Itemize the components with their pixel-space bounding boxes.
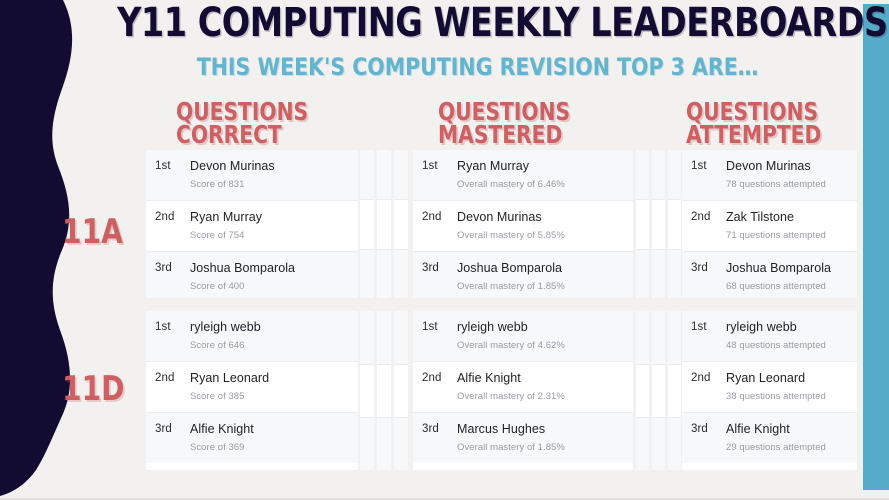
gutter-card-sliver [636, 150, 649, 298]
entry: Alfie Knight Score of 369 [190, 422, 358, 454]
leaderboard-11d-questions-mastered[interactable]: 1st ryleigh webb Overall mastery of 4.62… [413, 311, 633, 470]
entry: Devon Murinas Score of 831 [190, 159, 358, 191]
leaderboard-11d-questions-correct[interactable]: 1st ryleigh webb Score of 646 2nd Ryan L… [146, 311, 358, 470]
student-metric: Overall mastery of 2.31% [457, 391, 633, 403]
entry: Devon Murinas Overall mastery of 5.85% [457, 210, 633, 242]
column-heading-questions-attempted: Questions Attempted [686, 100, 821, 146]
student-metric: Score of 385 [190, 391, 358, 403]
rank-label: 1st [682, 320, 726, 334]
entry: Alfie Knight 29 questions attempted [726, 422, 857, 454]
leaderboard-11d-questions-attempted[interactable]: 1st ryleigh webb 48 questions attempted … [682, 311, 857, 470]
rank-label: 2nd [413, 371, 457, 385]
rank-label: 1st [413, 159, 457, 173]
student-name: Ryan Murray [457, 159, 633, 174]
student-metric: 38 questions attempted [726, 391, 857, 403]
table-row [668, 417, 681, 470]
table-row[interactable]: 1st ryleigh webb Overall mastery of 4.62… [413, 311, 633, 361]
entry: Zak Tilstone 71 questions attempted [726, 210, 857, 242]
table-row [636, 311, 649, 364]
rank-label: 1st [682, 159, 726, 173]
table-row [636, 249, 649, 298]
table-row [636, 417, 649, 470]
gutter-card-sliver [394, 150, 408, 298]
column-heading-questions-correct: Questions Correct [176, 100, 308, 146]
gutter-card-sliver [652, 150, 665, 298]
table-row [394, 364, 408, 417]
table-row [360, 417, 374, 470]
table-row [360, 249, 374, 298]
table-row [377, 417, 391, 470]
student-metric: 68 questions attempted [726, 281, 857, 293]
table-row [668, 150, 681, 199]
table-row[interactable]: 1st ryleigh webb 48 questions attempted [682, 311, 857, 361]
table-row [668, 311, 681, 364]
student-name: Devon Murinas [190, 159, 358, 174]
student-metric: Overall mastery of 1.85% [457, 442, 633, 454]
student-metric: 71 questions attempted [726, 230, 857, 242]
table-row [377, 249, 391, 298]
table-row[interactable]: 2nd Ryan Leonard Score of 385 [146, 361, 358, 412]
table-row[interactable]: 3rd Joshua Bomparola Overall mastery of … [413, 251, 633, 298]
table-row [360, 364, 374, 417]
entry: Ryan Leonard Score of 385 [190, 371, 358, 403]
student-metric: Score of 369 [190, 442, 358, 454]
gutter-card-sliver [636, 311, 649, 470]
student-name: Devon Murinas [457, 210, 633, 225]
table-row[interactable]: 3rd Marcus Hughes Overall mastery of 1.8… [413, 412, 633, 463]
student-name: ryleigh webb [190, 320, 358, 335]
table-row [668, 199, 681, 248]
student-metric: Overall mastery of 6.46% [457, 179, 633, 191]
page-subtitle: This week's computing revision top 3 are… [109, 54, 845, 80]
rank-label: 3rd [146, 261, 190, 275]
table-row [668, 364, 681, 417]
student-name: Zak Tilstone [726, 210, 857, 225]
table-row [652, 199, 665, 248]
entry: Ryan Murray Score of 754 [190, 210, 358, 242]
table-row[interactable]: 3rd Joshua Bomparola 68 questions attemp… [682, 251, 857, 298]
table-row[interactable]: 2nd Zak Tilstone 71 questions attempted [682, 200, 857, 251]
student-name: ryleigh webb [726, 320, 857, 335]
student-metric: Score of 754 [190, 230, 358, 242]
table-row [652, 249, 665, 298]
table-row[interactable]: 3rd Alfie Knight 29 questions attempted [682, 412, 857, 463]
table-row [652, 150, 665, 199]
table-row[interactable]: 2nd Ryan Leonard 38 questions attempted [682, 361, 857, 412]
table-row[interactable]: 1st ryleigh webb Score of 646 [146, 311, 358, 361]
table-row [652, 417, 665, 470]
entry: Ryan Murray Overall mastery of 6.46% [457, 159, 633, 191]
rank-label: 2nd [146, 210, 190, 224]
rank-label: 3rd [682, 422, 726, 436]
table-row[interactable]: 3rd Joshua Bomparola Score of 400 [146, 251, 358, 298]
rank-label: 2nd [682, 210, 726, 224]
table-row [377, 364, 391, 417]
rank-label: 1st [413, 320, 457, 334]
teal-accent-bar [863, 4, 889, 490]
table-row [394, 199, 408, 248]
student-name: Ryan Murray [190, 210, 358, 225]
student-name: Ryan Leonard [190, 371, 358, 386]
rank-label: 3rd [146, 422, 190, 436]
rank-label: 2nd [682, 371, 726, 385]
student-metric: Overall mastery of 1.85% [457, 281, 633, 293]
gutter-card-sliver [377, 311, 391, 470]
table-row[interactable]: 1st Devon Murinas Score of 831 [146, 150, 358, 200]
table-row [394, 417, 408, 470]
student-metric: 78 questions attempted [726, 179, 857, 191]
gutter-card-sliver [668, 311, 681, 470]
class-label-11a: 11A [62, 215, 123, 249]
rank-label: 2nd [146, 371, 190, 385]
entry: Devon Murinas 78 questions attempted [726, 159, 857, 191]
gutter-card-sliver [394, 311, 408, 470]
gutter-card-sliver [360, 150, 374, 298]
entry: ryleigh webb Score of 646 [190, 320, 358, 352]
rank-label: 1st [146, 320, 190, 334]
table-row [394, 150, 408, 199]
student-name: Ryan Leonard [726, 371, 857, 386]
table-row[interactable]: 2nd Alfie Knight Overall mastery of 2.31… [413, 361, 633, 412]
student-metric: 48 questions attempted [726, 340, 857, 352]
class-label-11d: 11D [62, 372, 125, 406]
entry: Ryan Leonard 38 questions attempted [726, 371, 857, 403]
title-block: Y11 Computing Weekly Leaderboards! This … [90, 2, 865, 80]
student-name: Marcus Hughes [457, 422, 633, 437]
entry: Joshua Bomparola Score of 400 [190, 261, 358, 293]
leaderboard-11a-questions-correct[interactable]: 1st Devon Murinas Score of 831 2nd Ryan … [146, 150, 358, 298]
entry: ryleigh webb Overall mastery of 4.62% [457, 320, 633, 352]
table-row[interactable]: 2nd Ryan Murray Score of 754 [146, 200, 358, 251]
student-name: Alfie Knight [190, 422, 358, 437]
leaderboard-11a-questions-attempted[interactable]: 1st Devon Murinas 78 questions attempted… [682, 150, 857, 298]
student-metric: Overall mastery of 5.85% [457, 230, 633, 242]
table-row [360, 199, 374, 248]
table-row [377, 311, 391, 364]
student-name: Alfie Knight [457, 371, 633, 386]
table-row[interactable]: 1st Ryan Murray Overall mastery of 6.46% [413, 150, 633, 200]
table-row [636, 199, 649, 248]
table-row [668, 249, 681, 298]
table-row [394, 249, 408, 298]
gutter-card-sliver [668, 150, 681, 298]
entry: Joshua Bomparola 68 questions attempted [726, 261, 857, 293]
student-metric: Score of 831 [190, 179, 358, 191]
rank-label: 3rd [682, 261, 726, 275]
page-title: Y11 Computing Weekly Leaderboards! [117, 2, 838, 44]
table-row [377, 150, 391, 199]
student-name: Joshua Bomparola [726, 261, 857, 276]
table-row[interactable]: 1st Devon Murinas 78 questions attempted [682, 150, 857, 200]
table-row [636, 364, 649, 417]
rank-label: 2nd [413, 210, 457, 224]
student-metric: Score of 400 [190, 281, 358, 293]
table-row [377, 199, 391, 248]
entry: Alfie Knight Overall mastery of 2.31% [457, 371, 633, 403]
student-name: Joshua Bomparola [190, 261, 358, 276]
table-row [360, 311, 374, 364]
slide-canvas: Y11 Computing Weekly Leaderboards! This … [0, 0, 889, 500]
entry: Marcus Hughes Overall mastery of 1.85% [457, 422, 633, 454]
gutter-card-sliver [652, 311, 665, 470]
entry: Joshua Bomparola Overall mastery of 1.85… [457, 261, 633, 293]
table-row[interactable]: 3rd Alfie Knight Score of 369 [146, 412, 358, 463]
student-name: Alfie Knight [726, 422, 857, 437]
table-row [360, 150, 374, 199]
student-metric: Overall mastery of 4.62% [457, 340, 633, 352]
rank-label: 3rd [413, 261, 457, 275]
column-heading-questions-mastered: Questions Mastered [438, 100, 570, 146]
table-row [652, 311, 665, 364]
rank-label: 1st [146, 159, 190, 173]
table-row [636, 150, 649, 199]
leaderboard-11a-questions-mastered[interactable]: 1st Ryan Murray Overall mastery of 6.46%… [413, 150, 633, 298]
table-row [394, 311, 408, 364]
rank-label: 3rd [413, 422, 457, 436]
gutter-card-sliver [360, 311, 374, 470]
student-metric: 29 questions attempted [726, 442, 857, 454]
student-metric: Score of 646 [190, 340, 358, 352]
student-name: ryleigh webb [457, 320, 633, 335]
gutter-card-sliver [377, 150, 391, 298]
table-row[interactable]: 2nd Devon Murinas Overall mastery of 5.8… [413, 200, 633, 251]
student-name: Joshua Bomparola [457, 261, 633, 276]
table-row [652, 364, 665, 417]
entry: ryleigh webb 48 questions attempted [726, 320, 857, 352]
student-name: Devon Murinas [726, 159, 857, 174]
